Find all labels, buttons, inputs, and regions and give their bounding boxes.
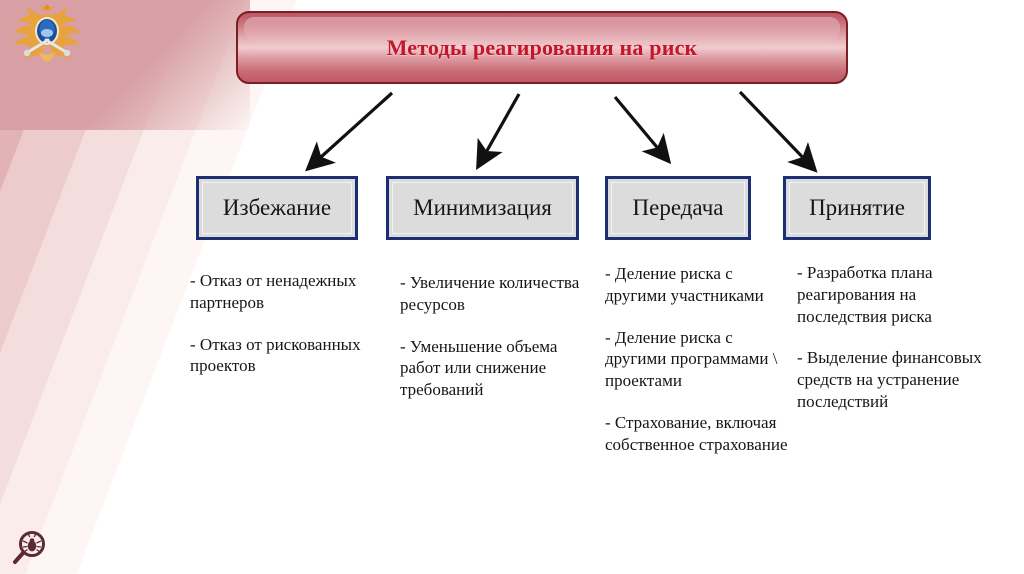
list-item: - Уменьшение объема работ или снижение т… [400, 336, 585, 401]
list-item: - Выделение финансовых средств на устран… [797, 347, 1002, 412]
list-item: - Увеличение количества ресурсов [400, 272, 585, 316]
category-box-minimizatsiya[interactable]: Минимизация [386, 176, 579, 240]
category-label: Принятие [809, 195, 905, 221]
list-item: - Отказ от ненадежных партнеров [190, 270, 375, 314]
category-box-peredacha[interactable]: Передача [605, 176, 751, 240]
list-item: - Деление риска с другими участниками [605, 263, 795, 307]
category-box-izbezhanie[interactable]: Избежание [196, 176, 358, 240]
page-title: Методы реагирования на риск [387, 35, 698, 61]
bullet-list-peredacha: - Деление риска с другими участниками - … [605, 263, 795, 455]
slide-canvas: Методы реагирования на риск Избежание Ми… [0, 0, 1024, 574]
category-box-prinyatie[interactable]: Принятие [783, 176, 931, 240]
category-label: Избежание [223, 195, 331, 221]
category-label: Передача [633, 195, 724, 221]
list-item: - Деление риска с другими программами \ … [605, 327, 795, 392]
list-item: - Отказ от рискованных проектов [190, 334, 375, 378]
bullet-list-prinyatie: - Разработка плана реагирования на после… [797, 262, 1002, 413]
list-item: - Разработка плана реагирования на после… [797, 262, 1002, 327]
slide-title-banner: Методы реагирования на риск [236, 11, 848, 84]
bullet-list-minimizatsiya: - Увеличение количества ресурсов - Умень… [400, 272, 585, 401]
magnifier-bug-icon [10, 528, 50, 568]
bullet-list-izbezhanie: - Отказ от ненадежных партнеров - Отказ … [190, 270, 375, 377]
list-item: - Страхование, включая собственное страх… [605, 412, 795, 456]
russian-double-headed-eagle-emblem [8, 2, 86, 64]
category-label: Минимизация [413, 195, 552, 221]
